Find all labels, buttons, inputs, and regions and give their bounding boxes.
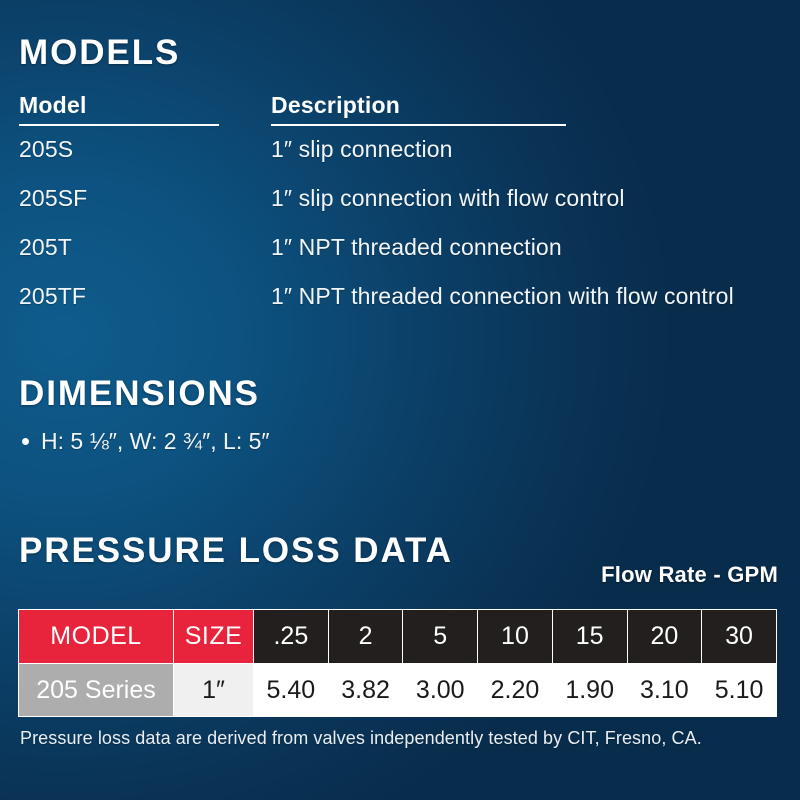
cell-size: 1″ [174,664,254,717]
model-description: 1″ NPT threaded connection with flow con… [271,283,734,310]
model-description: 1″ NPT threaded connection [271,234,562,261]
header-cell-size: SIZE [174,610,254,664]
cell-loss-30: 5.10 [702,664,777,717]
header-cell-flow-025: .25 [254,610,329,664]
cell-model-name: 205 Series [19,664,174,717]
header-cell-flow-20: 20 [627,610,702,664]
models-section-heading: MODELS [19,33,180,73]
pressure-loss-section-heading: PRESSURE LOSS DATA [19,531,453,571]
dimensions-section-heading: DIMENSIONS [19,374,260,414]
pressure-loss-header-row: MODEL SIZE .25 2 5 10 15 20 30 [19,610,777,664]
models-column-header-description: Description [271,92,566,126]
model-code: 205T [19,234,72,261]
header-cell-flow-2: 2 [328,610,403,664]
flow-rate-axis-label: Flow Rate - GPM [601,562,778,588]
header-cell-flow-10: 10 [478,610,553,664]
models-column-header-model: Model [19,92,219,126]
models-table: Model Description 205S 1″ slip connectio… [0,92,800,332]
bullet-icon [22,438,29,445]
model-code: 205S [19,136,73,163]
table-row: 205T 1″ NPT threaded connection [0,234,800,283]
table-row: 205TF 1″ NPT threaded connection with fl… [0,283,800,332]
models-table-body: 205S 1″ slip connection 205SF 1″ slip co… [0,136,800,332]
models-table-header-row: Model Description [0,92,800,128]
header-cell-flow-5: 5 [403,610,478,664]
cell-loss-15: 1.90 [552,664,627,717]
table-row: 205 Series 1″ 5.40 3.82 3.00 2.20 1.90 3… [19,664,777,717]
cell-loss-20: 3.10 [627,664,702,717]
dimensions-list-item: H: 5 ⅛″, W: 2 ¾″, L: 5″ [22,428,270,455]
table-row: 205S 1″ slip connection [0,136,800,185]
header-cell-model: MODEL [19,610,174,664]
cell-loss-10: 2.20 [478,664,553,717]
model-description: 1″ slip connection [271,136,453,163]
cell-loss-5: 3.00 [403,664,478,717]
dimensions-value: H: 5 ⅛″, W: 2 ¾″, L: 5″ [41,428,270,454]
cell-loss-2: 3.82 [328,664,403,717]
model-code: 205SF [19,185,87,212]
spec-sheet-panel: MODELS Model Description 205S 1″ slip co… [0,0,800,800]
pressure-loss-table: MODEL SIZE .25 2 5 10 15 20 30 205 Serie… [18,609,777,717]
model-description: 1″ slip connection with flow control [271,185,625,212]
model-code: 205TF [19,283,86,310]
pressure-loss-footnote: Pressure loss data are derived from valv… [20,728,702,749]
cell-loss-025: 5.40 [254,664,329,717]
header-cell-flow-15: 15 [552,610,627,664]
table-row: 205SF 1″ slip connection with flow contr… [0,185,800,234]
header-cell-flow-30: 30 [702,610,777,664]
